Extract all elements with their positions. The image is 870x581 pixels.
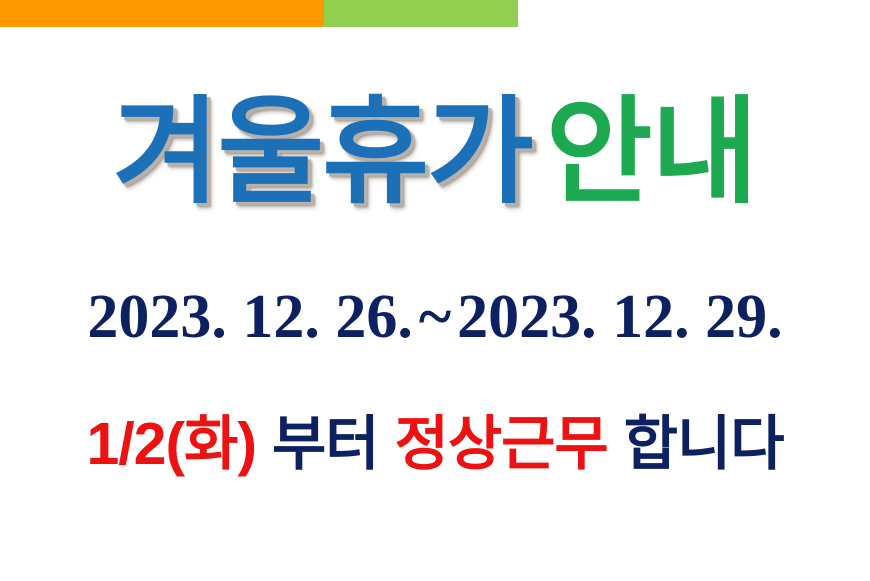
poster-headline: 겨울휴가안내 <box>0 92 870 214</box>
date-range-start: 2023. 12. 26. <box>87 283 413 351</box>
green-accent-bar <box>324 0 518 27</box>
return-to-work-notice: 1/2(화)부터정상근무합니다 <box>0 412 870 477</box>
empty-bar-space <box>518 0 870 27</box>
winter-vacation-notice-poster: 겨울휴가안내 2023. 12. 26.~2023. 12. 29. 1/2(화… <box>0 0 870 581</box>
top-color-bar-row <box>0 0 870 27</box>
notice-return-date: 1/2(화) <box>86 411 256 477</box>
headline-blue-text: 겨울휴가 <box>113 87 532 217</box>
notice-normal-work-label: 정상근무 <box>395 411 608 477</box>
orange-accent-bar <box>0 0 324 27</box>
vacation-date-range: 2023. 12. 26.~2023. 12. 29. <box>0 283 870 351</box>
notice-tail-label: 합니다 <box>624 411 784 477</box>
date-range-end: 2023. 12. 29. <box>457 283 783 351</box>
date-range-separator: ~ <box>413 283 457 351</box>
headline-green-text: 안내 <box>546 87 757 217</box>
notice-from-label: 부터 <box>272 411 379 477</box>
